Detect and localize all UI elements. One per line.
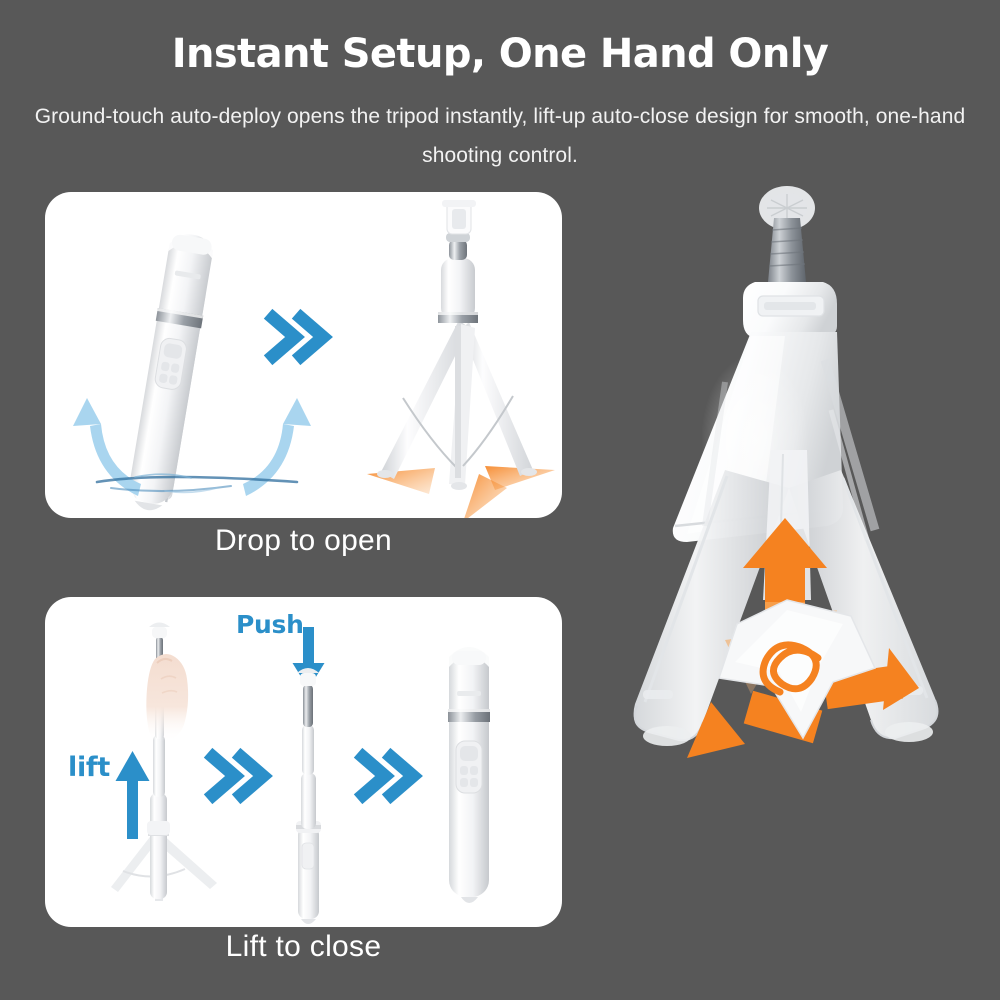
hand-icon xyxy=(146,654,188,742)
page-subtitle: Ground-touch auto-deploy opens the tripo… xyxy=(20,97,980,175)
hero-tripod-closeup xyxy=(575,170,1000,870)
card-drop-to-open xyxy=(45,192,562,518)
collapsed-pole-graphic xyxy=(293,627,325,924)
caption-lift-to-close: Lift to close xyxy=(45,930,562,964)
lift-to-close-illustration xyxy=(45,597,562,927)
double-chevron-right-icon-2 xyxy=(363,757,413,795)
closed-product-graphic xyxy=(448,647,490,903)
infographic-page: Instant Setup, One Hand Only Ground-touc… xyxy=(0,0,1000,1000)
caption-drop-to-open: Drop to open xyxy=(45,524,562,558)
folded-tripod-graphic xyxy=(125,231,216,514)
double-chevron-right-icon-1 xyxy=(213,757,263,795)
double-chevron-right-icon xyxy=(273,318,323,356)
deployed-tripod-graphic xyxy=(367,200,555,518)
card-lift-to-close xyxy=(45,597,562,927)
lift-label: lift xyxy=(68,752,110,783)
push-label: Push xyxy=(236,610,304,639)
drop-to-open-illustration xyxy=(45,192,562,518)
leg-hub-mechanism xyxy=(719,600,875,738)
threaded-neck xyxy=(768,218,806,282)
hand-lifting-tripod-graphic xyxy=(111,623,217,902)
arrow-up-icon xyxy=(116,751,150,839)
upper-collar xyxy=(743,282,837,338)
page-title: Instant Setup, One Hand Only xyxy=(0,31,1000,77)
hero-illustration xyxy=(575,170,1000,870)
